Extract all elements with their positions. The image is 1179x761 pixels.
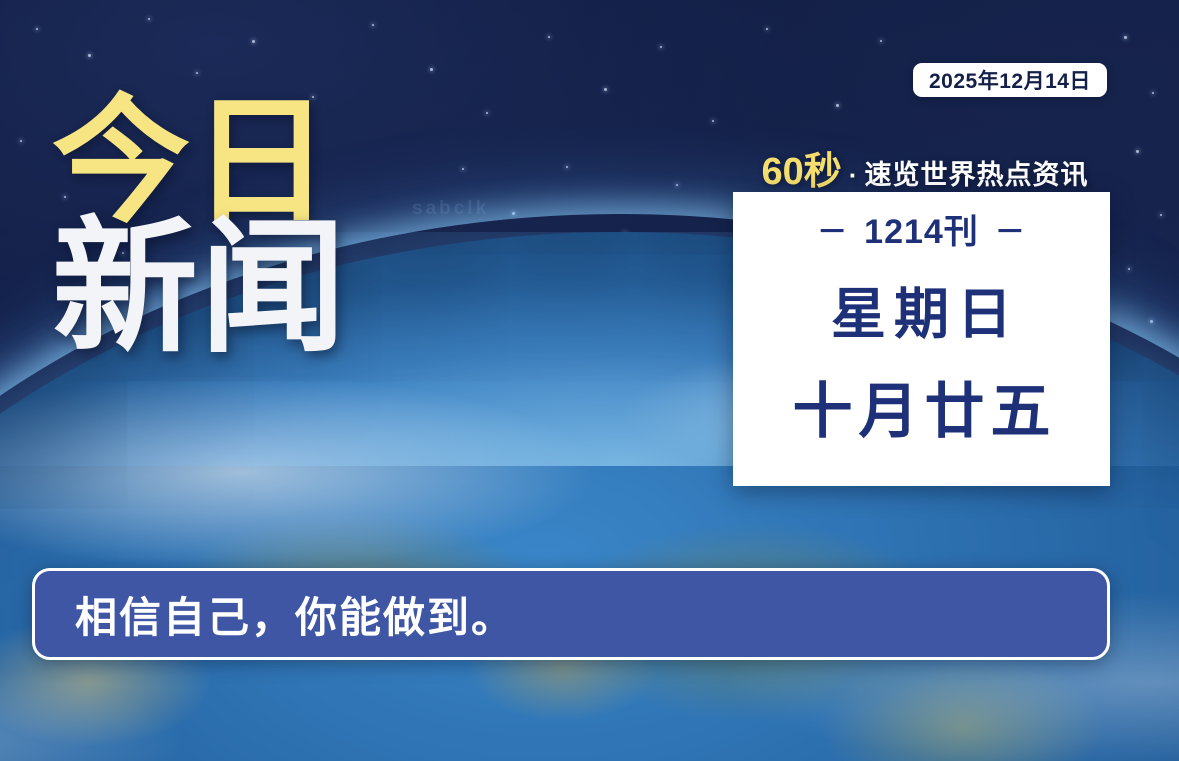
lunar-date-label: 十月廿五	[787, 363, 1057, 450]
weekday-label: 星期日	[823, 269, 1020, 349]
issue-dash-left: －	[817, 207, 848, 251]
tagline-text: 速览世界热点资讯	[864, 153, 1088, 192]
page-title: 今日 新闻	[52, 96, 692, 359]
tagline-seconds: 60秒	[762, 140, 842, 195]
quote-text: 相信自己，你能做到。	[75, 584, 515, 645]
tagline: 60秒 · 速览世界热点资讯	[735, 140, 1115, 195]
news-banner: sabclk 今日 新闻 2025年12月14日 60秒 · 速览世界热点资讯 …	[0, 0, 1179, 761]
issue-number: 1214刊	[864, 204, 979, 253]
issue-row: － 1214刊 －	[817, 204, 1026, 253]
date-badge: 2025年12月14日	[913, 63, 1107, 97]
issue-info-card: － 1214刊 － 星期日 十月廿五	[733, 192, 1110, 486]
tagline-separator: ·	[849, 160, 858, 191]
issue-dash-right: －	[995, 207, 1026, 251]
title-line-news: 新闻	[52, 218, 692, 358]
quote-bar: 相信自己，你能做到。	[32, 568, 1110, 660]
